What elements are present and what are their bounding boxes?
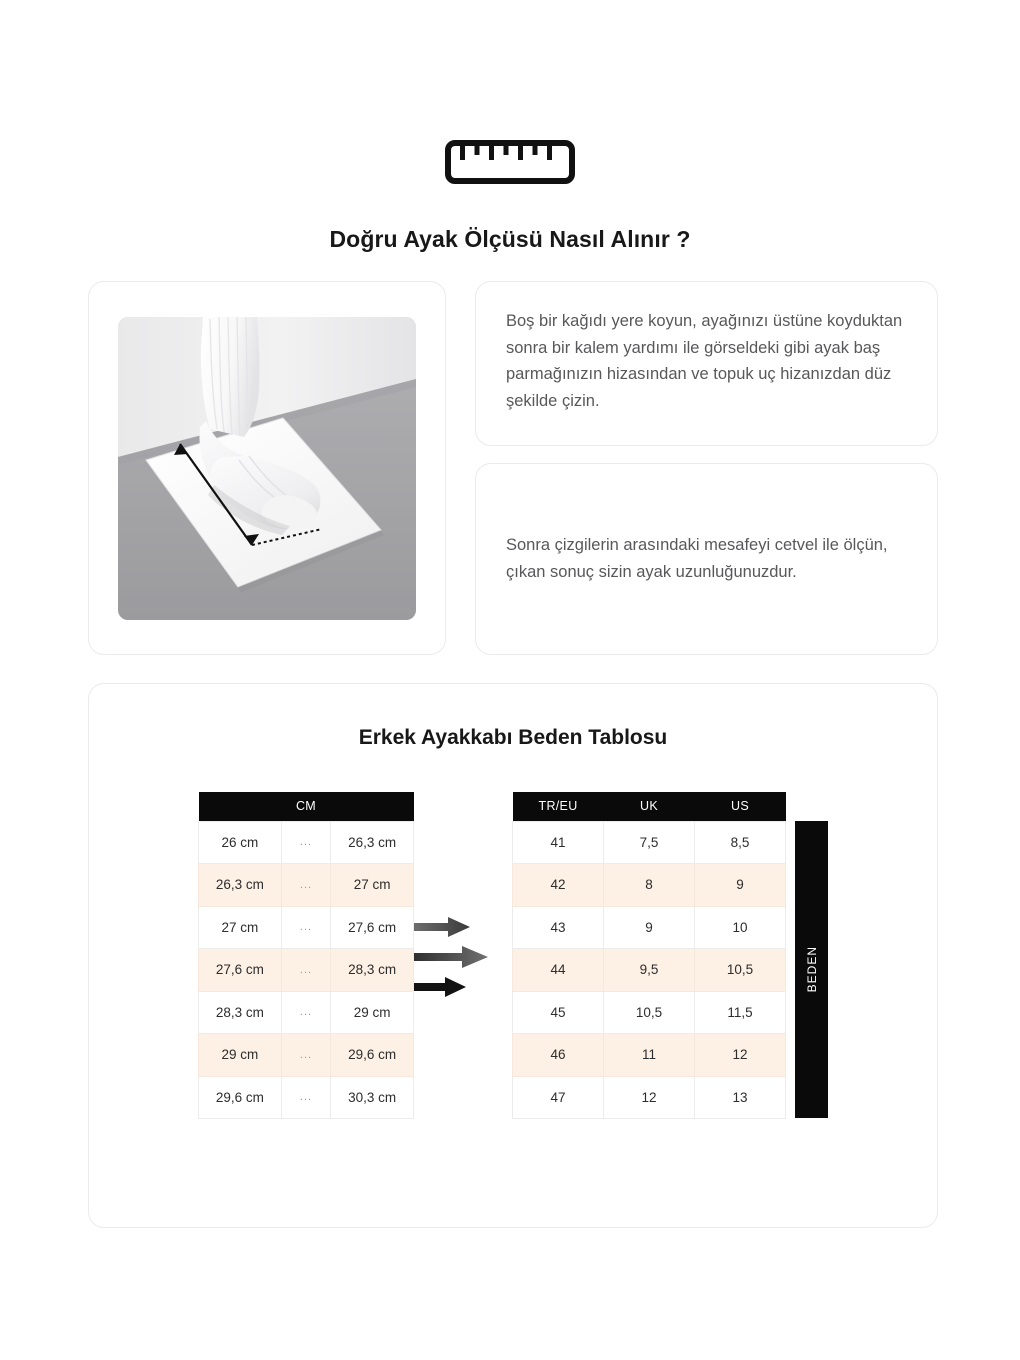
instruction-text-1: Boş bir kağıdı yere koyun, ayağınızı üst… <box>506 308 907 415</box>
cm-to: 27 cm <box>331 864 414 907</box>
cm-sep: ... <box>281 864 331 907</box>
photo-card <box>88 281 446 655</box>
table-row: 27,6 cm ... 28,3 cm <box>199 949 414 992</box>
column-header-us: US <box>695 792 786 821</box>
cell-uk: 12 <box>604 1076 695 1119</box>
cm-header: CM <box>199 792 414 821</box>
cm-to: 26,3 cm <box>331 821 414 864</box>
instructions-column: Boş bir kağıdı yere koyun, ayağınızı üst… <box>475 281 938 655</box>
table-row: 47 12 13 <box>513 1076 786 1119</box>
cm-sep: ... <box>281 1034 331 1077</box>
cm-to: 27,6 cm <box>331 906 414 949</box>
cell-treu: 44 <box>513 949 604 992</box>
cm-sep: ... <box>281 949 331 992</box>
cell-us: 8,5 <box>695 821 786 864</box>
instruction-text-2: Sonra çizgilerin arasındaki mesafeyi cet… <box>506 532 907 585</box>
table-row: 42 8 9 <box>513 864 786 907</box>
cell-uk: 9,5 <box>604 949 695 992</box>
cell-uk: 9 <box>604 906 695 949</box>
cell-us: 13 <box>695 1076 786 1119</box>
instruction-card-1: Boş bir kağıdı yere koyun, ayağınızı üst… <box>475 281 938 446</box>
cm-sep: ... <box>281 906 331 949</box>
cm-from: 28,3 cm <box>199 991 282 1034</box>
ruler-icon <box>445 140 575 184</box>
cell-us: 10,5 <box>695 949 786 992</box>
cm-from: 26 cm <box>199 821 282 864</box>
cell-treu: 46 <box>513 1034 604 1077</box>
table-row: 29 cm ... 29,6 cm <box>199 1034 414 1077</box>
page-title: Doğru Ayak Ölçüsü Nasıl Alınır ? <box>0 226 1020 253</box>
cm-to: 29 cm <box>331 991 414 1034</box>
instruction-card-2: Sonra çizgilerin arasındaki mesafeyi cet… <box>475 463 938 655</box>
cm-to: 28,3 cm <box>331 949 414 992</box>
table-row: 26,3 cm ... 27 cm <box>199 864 414 907</box>
cm-sep: ... <box>281 821 331 864</box>
foot-on-paper-photo <box>118 317 416 620</box>
size-table: TR/EU UK US 41 7,5 8,5 42 8 9 <box>512 792 786 1119</box>
table-row: 44 9,5 10,5 <box>513 949 786 992</box>
cm-from: 27,6 cm <box>199 949 282 992</box>
column-header-treu: TR/EU <box>513 792 604 821</box>
cell-uk: 10,5 <box>604 991 695 1034</box>
size-table-header-row: TR/EU UK US <box>513 792 786 821</box>
cell-treu: 41 <box>513 821 604 864</box>
cell-treu: 42 <box>513 864 604 907</box>
table-row: 29,6 cm ... 30,3 cm <box>199 1076 414 1119</box>
size-guide-page: Doğru Ayak Ölçüsü Nasıl Alınır ? <box>0 0 1020 1360</box>
size-chart-title: Erkek Ayakkabı Beden Tablosu <box>89 726 937 750</box>
cm-to: 30,3 cm <box>331 1076 414 1119</box>
cm-from: 27 cm <box>199 906 282 949</box>
cm-table: CM 26 cm ... 26,3 cm 26,3 cm ... 27 cm <box>198 792 414 1119</box>
cm-from: 29,6 cm <box>199 1076 282 1119</box>
cell-uk: 11 <box>604 1034 695 1077</box>
triple-right-arrow-icon <box>414 792 512 997</box>
cm-sep: ... <box>281 991 331 1034</box>
cm-from: 29 cm <box>199 1034 282 1077</box>
cell-treu: 45 <box>513 991 604 1034</box>
column-header-uk: UK <box>604 792 695 821</box>
beden-side-label: BEDEN <box>795 821 828 1118</box>
cm-table-header-row: CM <box>199 792 414 821</box>
cell-us: 12 <box>695 1034 786 1077</box>
table-row: 45 10,5 11,5 <box>513 991 786 1034</box>
beden-label-text: BEDEN <box>805 946 819 992</box>
size-chart-tables: CM 26 cm ... 26,3 cm 26,3 cm ... 27 cm <box>89 792 937 1119</box>
cell-us: 11,5 <box>695 991 786 1034</box>
cm-from: 26,3 cm <box>199 864 282 907</box>
table-row: 43 9 10 <box>513 906 786 949</box>
cell-treu: 43 <box>513 906 604 949</box>
size-chart-card: Erkek Ayakkabı Beden Tablosu CM 26 cm ..… <box>88 683 938 1228</box>
table-row: 28,3 cm ... 29 cm <box>199 991 414 1034</box>
cell-treu: 47 <box>513 1076 604 1119</box>
intro-section: Boş bir kağıdı yere koyun, ayağınızı üst… <box>88 281 938 655</box>
cell-uk: 7,5 <box>604 821 695 864</box>
cm-sep: ... <box>281 1076 331 1119</box>
cell-us: 10 <box>695 906 786 949</box>
cm-to: 29,6 cm <box>331 1034 414 1077</box>
page-header: Doğru Ayak Ölçüsü Nasıl Alınır ? <box>0 140 1020 253</box>
table-row: 41 7,5 8,5 <box>513 821 786 864</box>
cell-uk: 8 <box>604 864 695 907</box>
cell-us: 9 <box>695 864 786 907</box>
table-row: 46 11 12 <box>513 1034 786 1077</box>
table-row: 27 cm ... 27,6 cm <box>199 906 414 949</box>
table-row: 26 cm ... 26,3 cm <box>199 821 414 864</box>
